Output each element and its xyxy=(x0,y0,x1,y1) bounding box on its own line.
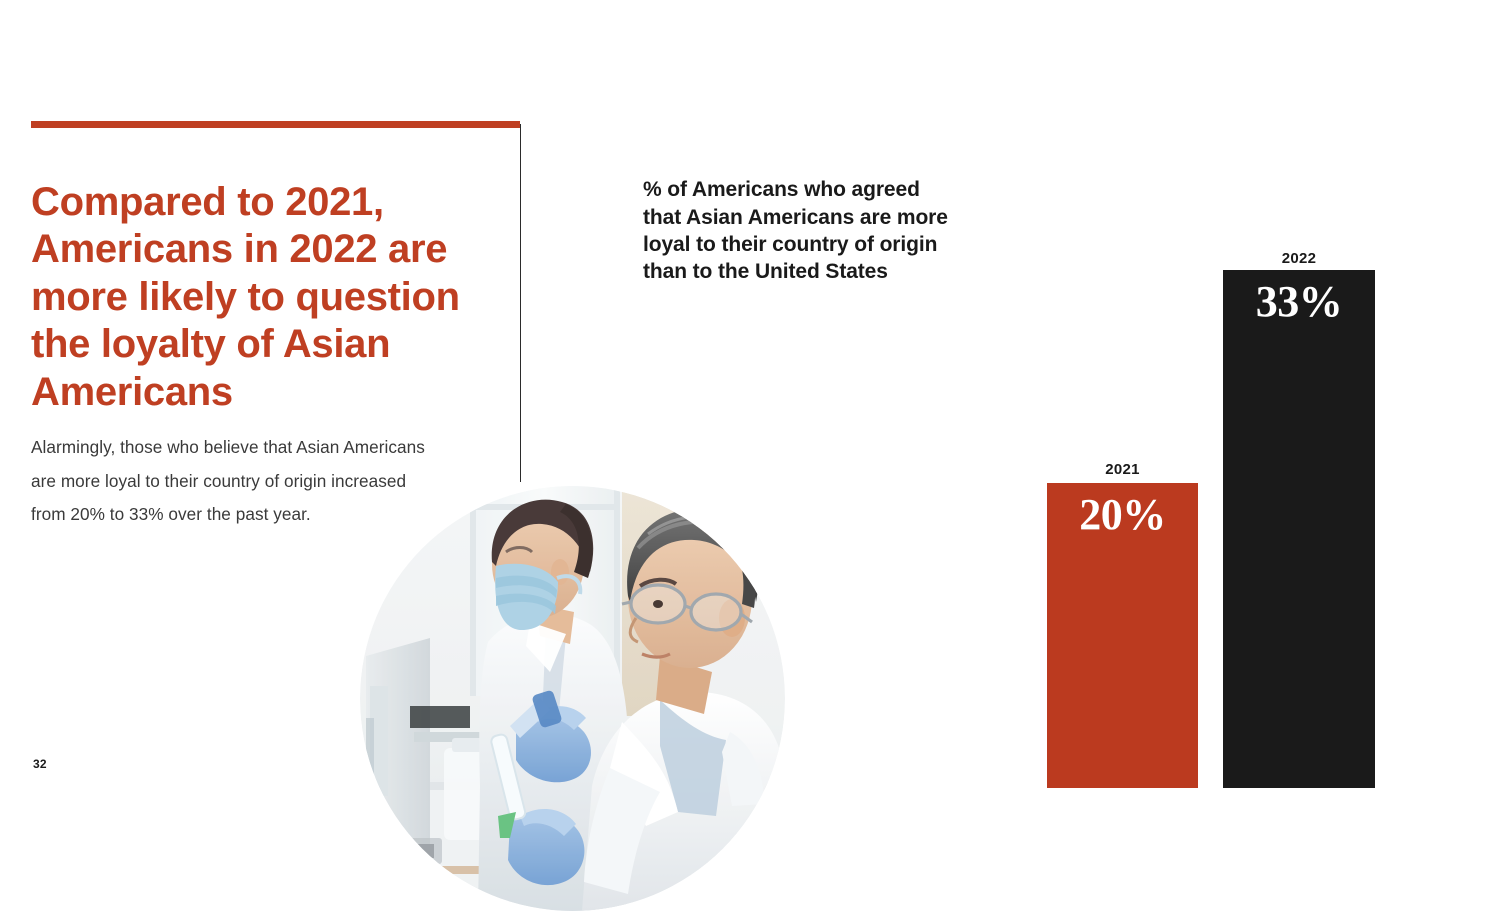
bar-category-label-2021: 2021 xyxy=(1047,461,1198,478)
page-title: Compared to 2021, Americans in 2022 are … xyxy=(31,179,461,417)
chart-title: % of Americans who agreed that Asian Ame… xyxy=(643,176,1023,285)
bar-value-label-2022: 33% xyxy=(1223,278,1375,326)
bar-category-label-2022: 2022 xyxy=(1223,250,1375,267)
bar-chart: 2021 20% 2022 33% xyxy=(1020,0,1420,788)
vertical-divider xyxy=(520,124,521,482)
slide: Compared to 2021, Americans in 2022 are … xyxy=(0,0,1499,788)
body-paragraph: Alarmingly, those who believe that Asian… xyxy=(31,431,501,531)
lab-scientists-photo xyxy=(360,486,785,911)
accent-rule xyxy=(31,121,520,128)
page-number: 32 xyxy=(33,757,47,771)
bar-value-label-2021: 20% xyxy=(1047,491,1198,539)
bar-2022: 33% xyxy=(1223,270,1375,788)
bar-2021: 20% xyxy=(1047,483,1198,788)
